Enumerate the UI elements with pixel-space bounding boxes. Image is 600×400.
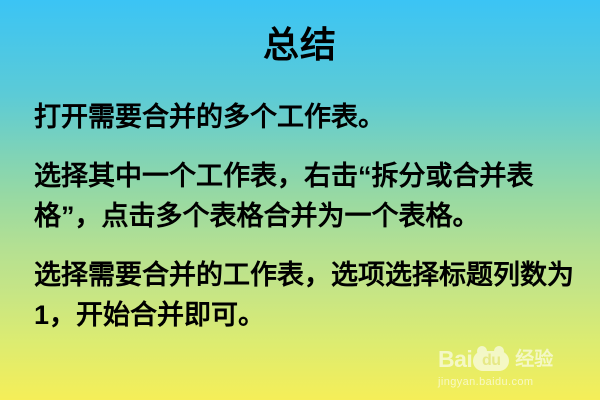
watermark-url: jingyan.baidu.com [438,376,590,388]
baidu-logo: Bai du 经验 [438,346,590,372]
body-paragraph-3: 选择需要合并的工作表，选项选择标题列数为1，开始合并即可。 [34,255,582,335]
jingyan-label: 经验 [515,350,553,369]
slide-canvas: 总结 打开需要合并的多个工作表。 选择其中一个工作表，右击“拆分或合并表格”，点… [0,0,600,400]
baidu-badge: du [473,351,509,371]
baidu-badge-text: du [482,353,501,369]
baidu-ear-left-icon [477,346,487,356]
baidu-logo-text: Bai [438,348,472,371]
page-title: 总结 [0,22,600,68]
baidu-ear-right-icon [494,346,504,356]
slide-body: 打开需要合并的多个工作表。 选择其中一个工作表，右击“拆分或合并表格”，点击多个… [34,97,582,335]
body-paragraph-2: 选择其中一个工作表，右击“拆分或合并表格”，点击多个表格合并为一个表格。 [34,156,582,236]
baidu-bear-paw-icon: du [473,347,509,371]
baidu-jingyan-watermark: Bai du 经验 jingyan.baidu.com [438,346,590,392]
body-paragraph-1: 打开需要合并的多个工作表。 [34,97,582,137]
